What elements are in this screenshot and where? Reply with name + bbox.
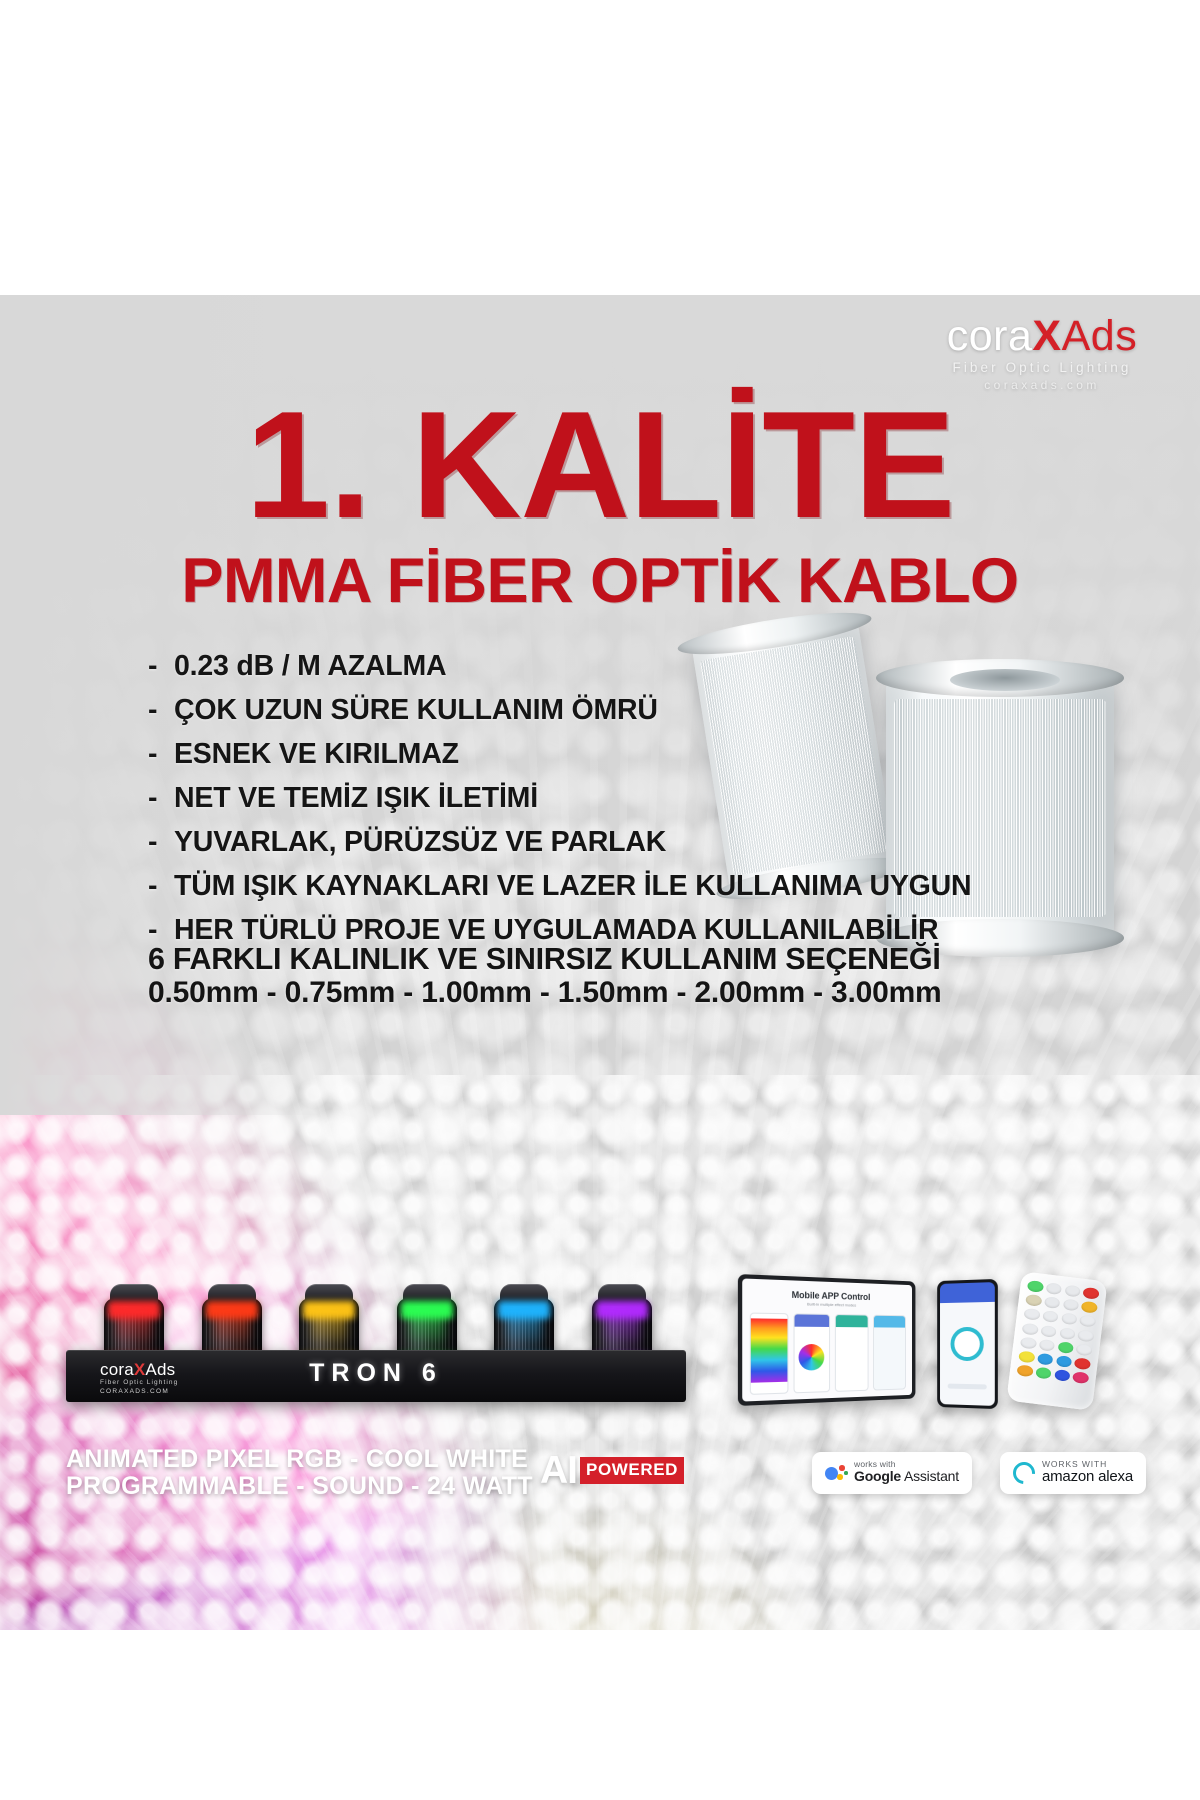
badge-service-light: Assistant xyxy=(901,1468,959,1484)
badge-text: works with amazon alexa xyxy=(1042,1460,1133,1486)
remote-control-device xyxy=(1006,1271,1107,1411)
logo-wordmark-x: X xyxy=(1032,312,1061,360)
controller-feature-line-1: ANIMATED PIXEL RGB - COOL WHITE xyxy=(66,1446,533,1473)
thickness-sizes: 0.50mm - 0.75mm - 1.00mm - 1.50mm - 2.00… xyxy=(148,975,1068,1010)
list-item: - ESNEK VE KIRILMAZ xyxy=(148,740,1048,769)
logo-wordmark-post: Ads xyxy=(1062,312,1138,360)
logo-tagline: Fiber Optic Lighting xyxy=(912,360,1172,375)
control-devices-photo: Mobile APP Control Built-in multiple eff… xyxy=(740,1276,1160,1408)
app-color-palette-pane xyxy=(750,1313,788,1395)
thickness-heading: 6 FARKLI KALINLIK VE SINIRSIZ KULLANIM S… xyxy=(148,943,1068,975)
logo-wordmark-pre: cora xyxy=(947,312,1033,360)
badge-service-name: amazon alexa xyxy=(1042,1468,1133,1485)
list-item-label: HER TÜRLÜ PROJE VE UYGULAMADA KULLANILAB… xyxy=(174,916,938,945)
bullet-marker: - xyxy=(148,872,174,901)
led-module-green xyxy=(393,1284,461,1356)
bullet-marker: - xyxy=(148,916,174,945)
feature-list: - 0.23 dB / M AZALMA - ÇOK UZUN SÜRE KUL… xyxy=(148,652,1048,960)
bullet-marker: - xyxy=(148,652,174,681)
amazon-alexa-badge: works with amazon alexa xyxy=(1000,1452,1146,1494)
thickness-options: 6 FARKLI KALINLIK VE SINIRSIZ KULLANIM S… xyxy=(148,943,1068,1010)
logo-wordmark: coraXAds xyxy=(912,315,1172,358)
google-assistant-icon xyxy=(825,1465,847,1481)
badge-text: works with Google Assistant xyxy=(854,1460,959,1486)
badge-service-name: Google Assistant xyxy=(854,1468,959,1484)
led-module-orange xyxy=(198,1284,266,1356)
phone-device xyxy=(937,1279,998,1409)
google-assistant-badge: works with Google Assistant xyxy=(812,1452,972,1494)
list-item: - HER TÜRLÜ PROJE VE UYGULAMADA KULLANIL… xyxy=(148,916,1048,945)
bullet-marker: - xyxy=(148,784,174,813)
list-item-label: NET VE TEMİZ IŞIK İLETİMİ xyxy=(174,784,538,813)
page-title: 1. KALİTE xyxy=(0,393,1200,539)
page-subtitle: PMMA FİBER OPTİK KABLO xyxy=(0,550,1200,613)
phone-dial-control xyxy=(951,1327,984,1361)
phone-slider xyxy=(948,1384,987,1390)
app-settings-pane xyxy=(873,1315,906,1391)
controller-feature-text: ANIMATED PIXEL RGB - COOL WHITE PROGRAMM… xyxy=(66,1446,533,1500)
list-item-label: YUVARLAK, PÜRÜZSÜZ VE PARLAK xyxy=(174,828,666,857)
advertisement-page: coraXAds Fiber Optic Lighting coraxads.c… xyxy=(0,0,1200,1800)
badge-service-bold: Google xyxy=(854,1468,901,1484)
led-module-blue xyxy=(490,1284,558,1356)
remote-keypad xyxy=(1017,1280,1100,1384)
list-item: - YUVARLAK, PÜRÜZSÜZ VE PARLAK xyxy=(148,828,1048,857)
list-item: - TÜM IŞIK KAYNAKLARI VE LAZER İLE KULLA… xyxy=(148,872,1048,901)
list-item: - 0.23 dB / M AZALMA xyxy=(148,652,1048,681)
app-color-wheel-pane xyxy=(793,1313,829,1393)
list-item-label: TÜM IŞIK KAYNAKLARI VE LAZER İLE KULLANI… xyxy=(174,872,971,901)
phone-screen xyxy=(940,1282,995,1406)
list-item-label: ÇOK UZUN SÜRE KULLANIM ÖMRÜ xyxy=(174,696,658,725)
tablet-screen: Mobile APP Control Built-in multiple eff… xyxy=(742,1278,912,1401)
led-module-red xyxy=(100,1284,168,1356)
controller-feature-line-2: PROGRAMMABLE - SOUND - 24 WATT xyxy=(66,1473,533,1500)
list-item-label: 0.23 dB / M AZALMA xyxy=(174,652,446,681)
powered-label: POWERED xyxy=(580,1457,684,1484)
tablet-device: Mobile APP Control Built-in multiple eff… xyxy=(738,1274,916,1406)
app-effects-pane xyxy=(834,1314,868,1392)
led-module-purple xyxy=(588,1284,656,1356)
amazon-alexa-icon xyxy=(1009,1458,1040,1489)
led-module-yellow xyxy=(295,1284,363,1356)
bullet-marker: - xyxy=(148,696,174,725)
bullet-marker: - xyxy=(148,740,174,769)
ai-label: AI xyxy=(540,1451,577,1490)
led-module-row xyxy=(100,1284,656,1356)
tron6-controller: coraXAds Fiber Optic Lighting CORAXADS.C… xyxy=(66,1287,686,1402)
list-item: - ÇOK UZUN SÜRE KULLANIM ÖMRÜ xyxy=(148,696,1048,725)
bullet-marker: - xyxy=(148,828,174,857)
app-screenshot-row xyxy=(750,1313,906,1395)
controller-base-bar: coraXAds Fiber Optic Lighting CORAXADS.C… xyxy=(66,1350,686,1402)
list-item-label: ESNEK VE KIRILMAZ xyxy=(174,740,459,769)
controller-model-name: TRON 6 xyxy=(66,1359,686,1388)
controller-brand-url: CORAXADS.COM xyxy=(100,1388,178,1396)
ai-powered-badge: AI POWERED xyxy=(540,1451,684,1490)
product-banner: coraXAds Fiber Optic Lighting coraxads.c… xyxy=(0,295,1200,1630)
list-item: - NET VE TEMİZ IŞIK İLETİMİ xyxy=(148,784,1048,813)
